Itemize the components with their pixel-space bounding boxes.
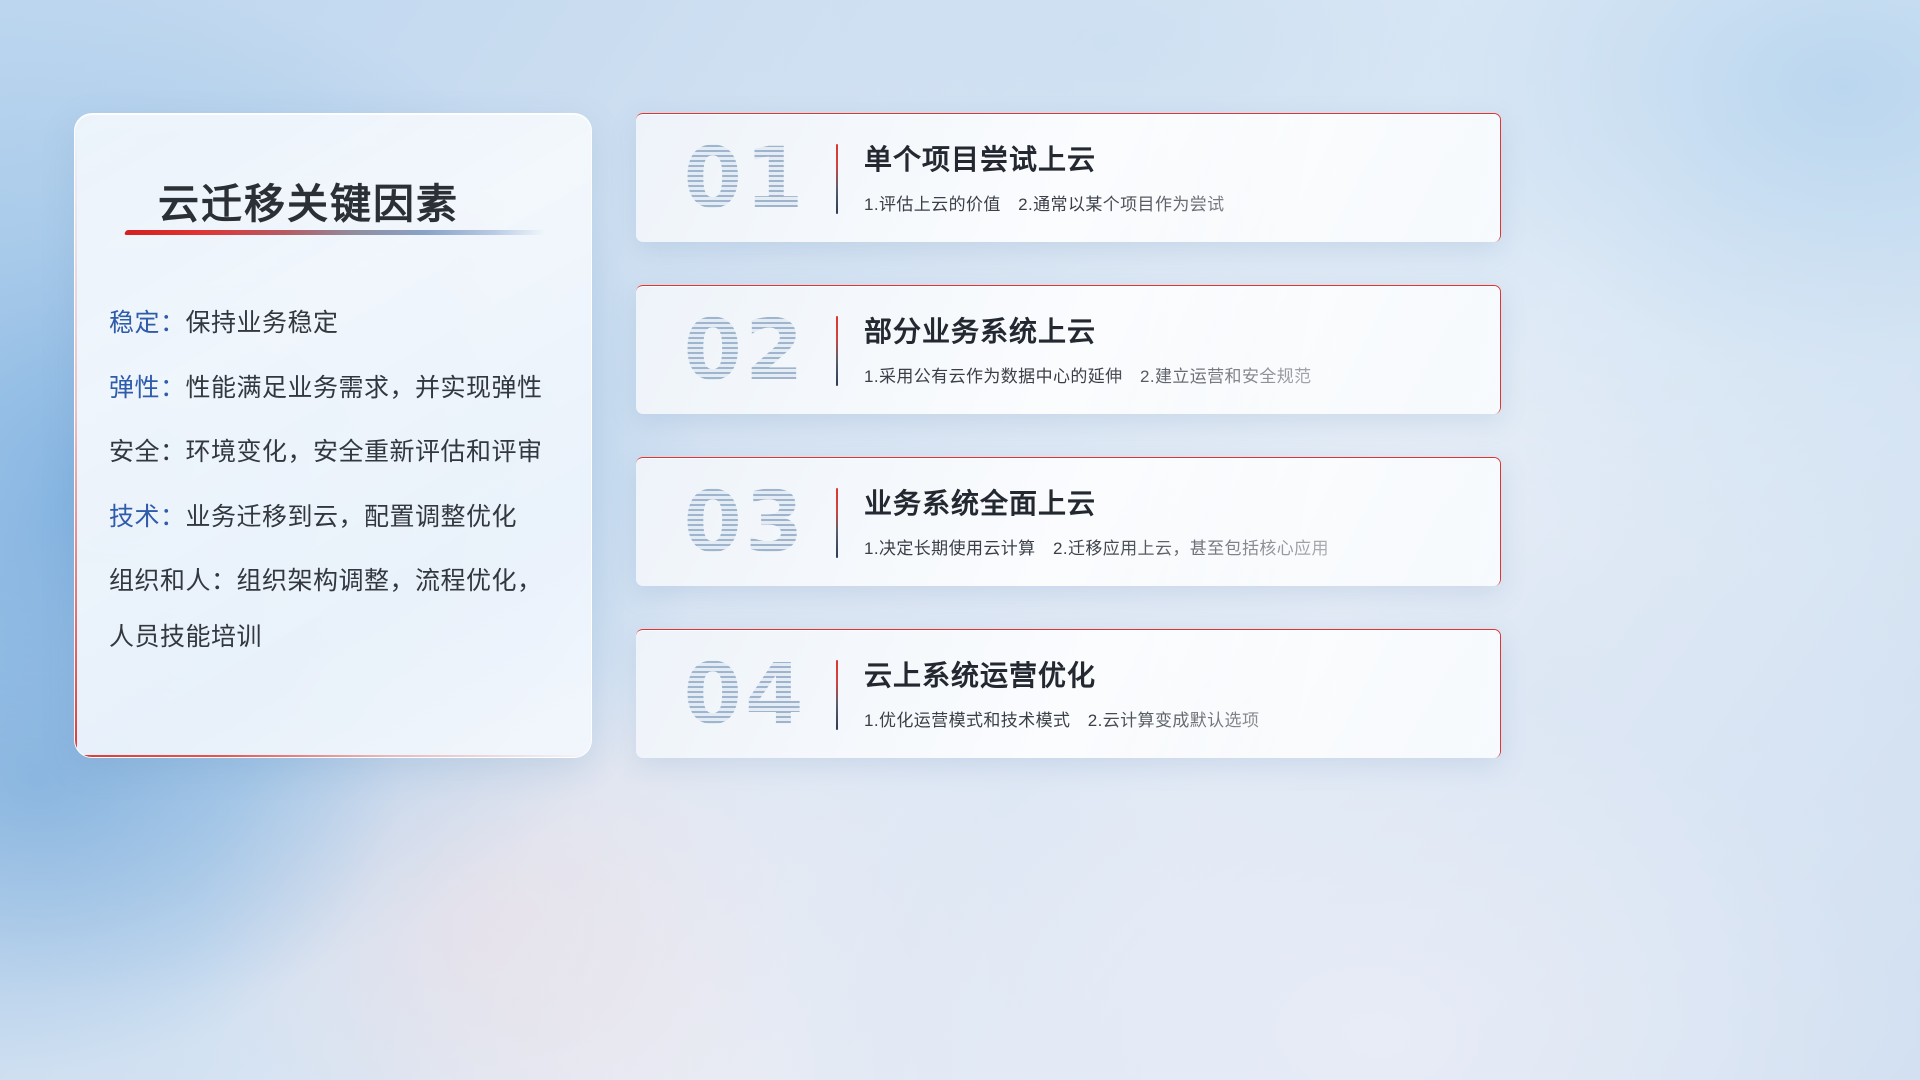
key-factors-list: 稳定：保持业务稳定 弹性：性能满足业务需求，并实现弹性 安全：环境变化，安全重新… bbox=[109, 309, 571, 662]
step-subtitle: 1.优化运营模式和技术模式 2.云计算变成默认选项 bbox=[864, 706, 1259, 731]
step-title: 云上系统运营优化 bbox=[864, 654, 1096, 694]
factor-text: 业务迁移到云，配置调整优化 bbox=[186, 503, 518, 531]
factor-label: 稳定： bbox=[109, 309, 186, 337]
step-subtitle: 1.决定长期使用云计算 2.迁移应用上云，甚至包括核心应用 bbox=[864, 534, 1329, 559]
page-title: 云迁移关键因素 bbox=[158, 170, 459, 230]
step-number: 03 bbox=[660, 464, 830, 580]
step-subtitle: 1.采用公有云作为数据中心的延伸 2.建立运营和安全规范 bbox=[864, 362, 1312, 387]
step-title: 部分业务系统上云 bbox=[864, 310, 1096, 350]
step-divider-accent bbox=[836, 488, 838, 558]
list-item: 技术：业务迁移到云，配置调整优化 bbox=[109, 503, 571, 533]
step-divider-accent bbox=[836, 316, 838, 386]
title-underline-accent bbox=[124, 230, 546, 235]
factor-label: 组织和人： bbox=[109, 567, 237, 595]
step-number: 01 bbox=[660, 120, 830, 236]
factor-text: 环境变化，安全重新评估和评审 bbox=[186, 438, 543, 466]
step-card-02[interactable]: 02 02 部分业务系统上云 1.采用公有云作为数据中心的延伸 2.建立运营和安… bbox=[636, 285, 1501, 414]
factor-label: 弹性： bbox=[109, 374, 186, 402]
factor-text: 保持业务稳定 bbox=[186, 309, 339, 337]
step-card-03[interactable]: 03 03 业务系统全面上云 1.决定长期使用云计算 2.迁移应用上云，甚至包括… bbox=[636, 457, 1501, 586]
step-number: 02 bbox=[660, 292, 830, 408]
step-title: 单个项目尝试上云 bbox=[864, 138, 1096, 178]
factor-label: 技术： bbox=[109, 503, 186, 531]
list-item: 弹性：性能满足业务需求，并实现弹性 bbox=[109, 374, 571, 404]
factor-text: 组织架构调整，流程优化， bbox=[237, 567, 543, 595]
list-item: 安全：环境变化，安全重新评估和评审 bbox=[109, 438, 571, 468]
step-subtitle: 1.评估上云的价值 2.通常以某个项目作为尝试 bbox=[864, 190, 1225, 215]
key-factors-card: 云迁移关键因素 稳定：保持业务稳定 弹性：性能满足业务需求，并实现弹性 安全：环… bbox=[74, 113, 592, 758]
factor-text-continued: 人员技能培训 bbox=[109, 623, 571, 653]
step-card-01[interactable]: 01 01 单个项目尝试上云 1.评估上云的价值 2.通常以某个项目作为尝试 bbox=[636, 113, 1501, 242]
step-divider-accent bbox=[836, 660, 838, 730]
step-number: 04 bbox=[660, 636, 830, 752]
factor-text: 性能满足业务需求，并实现弹性 bbox=[186, 374, 543, 402]
list-item: 稳定：保持业务稳定 bbox=[109, 309, 571, 339]
list-item: 组织和人：组织架构调整，流程优化， 人员技能培训 bbox=[109, 567, 571, 652]
step-card-04[interactable]: 04 04 云上系统运营优化 1.优化运营模式和技术模式 2.云计算变成默认选项 bbox=[636, 629, 1501, 758]
step-divider-accent bbox=[836, 144, 838, 214]
step-title: 业务系统全面上云 bbox=[864, 482, 1096, 522]
factor-label: 安全： bbox=[109, 438, 186, 466]
